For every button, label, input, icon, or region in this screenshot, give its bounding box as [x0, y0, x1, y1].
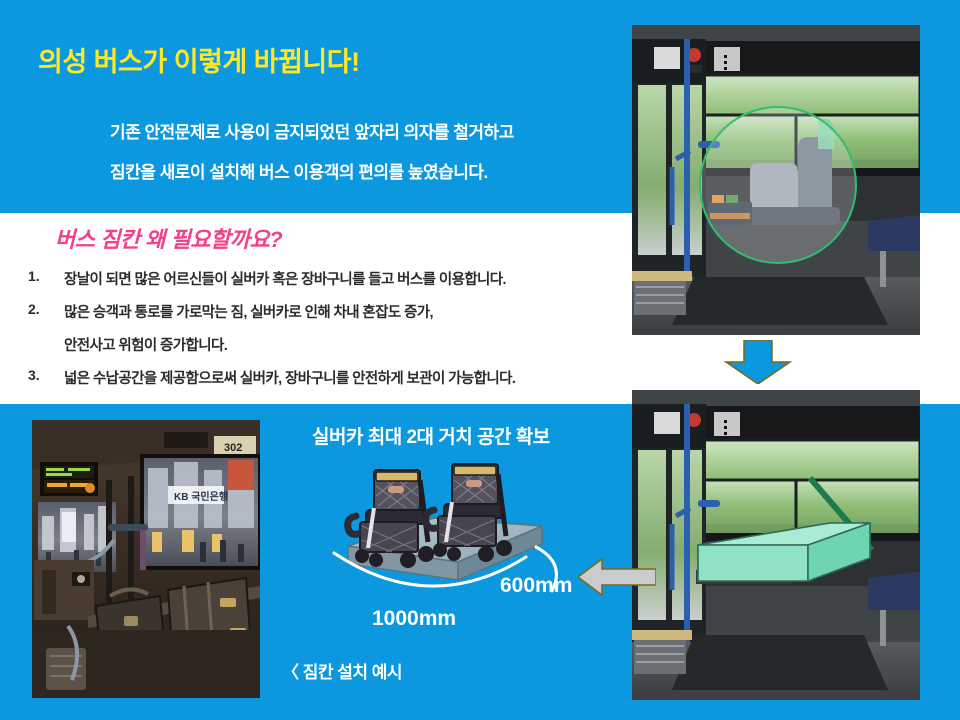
photo-bus-interior-before: [632, 25, 920, 335]
list-item-text: 많은 승객과 통로를 가로막는 짐, 실버카로 인해 차내 혼잡도 증가,: [64, 301, 433, 322]
list-item: 2. 많은 승객과 통로를 가로막는 짐, 실버카로 인해 차내 혼잡도 증가,: [22, 301, 632, 334]
arrow-down-icon: [722, 340, 794, 384]
list-item-continuation: 안전사고 위험이 증가합니다.: [22, 334, 632, 367]
dimension-label-width: 1000mm: [372, 607, 456, 631]
list-item: 3. 넓은 수납공간을 제공함으로써 실버카, 장바구니를 안전하게 보관이 가…: [22, 367, 632, 400]
list-item-text: 안전사고 위험이 증가합니다.: [64, 334, 227, 355]
silver-cart-platform-illustration: [330, 450, 560, 590]
photo-bus-interior-after-graphic: [632, 390, 920, 700]
reasons-list: 1. 장날이 되면 많은 어르신들이 실버카 혹은 장바구니를 들고 버스를 이…: [22, 268, 632, 400]
list-item-number: 1.: [22, 268, 64, 284]
list-item-number: 3.: [22, 367, 64, 383]
list-item-number: 2.: [22, 301, 64, 317]
page-subtitle-line-1: 기존 안전문제로 사용이 금지되었던 앞자리 의자를 철거하고: [110, 118, 514, 143]
section-heading-why: 버스 짐칸 왜 필요할까요?: [55, 222, 282, 254]
arrow-left-icon: [578, 557, 656, 597]
list-item: 1. 장날이 되면 많은 어르신들이 실버카 혹은 장바구니를 들고 버스를 이…: [22, 268, 632, 301]
list-item-text: 넓은 수납공간을 제공함으로써 실버카, 장바구니를 안전하게 보관이 가능합니…: [64, 367, 515, 388]
photo-bus-interior-before-graphic: [632, 25, 920, 335]
page-title: 의성 버스가 이렇게 바뀝니다!: [38, 40, 360, 79]
diagram-caption: 〈 짐칸 설치 예시: [282, 658, 402, 683]
route-number-label: 302: [224, 442, 242, 454]
diagram-title: 실버카 최대 2대 거치 공간 확보: [312, 422, 550, 449]
photo-night-bus-luggage-graphic: 302: [32, 420, 260, 698]
list-item-text: 장날이 되면 많은 어르신들이 실버카 혹은 장바구니를 들고 버스를 이용합니…: [64, 268, 506, 289]
page-subtitle-line-2: 짐칸을 새로이 설치해 버스 이용객의 편의를 높였습니다.: [110, 158, 488, 183]
poster-root: 의성 버스가 이렇게 바뀝니다! 기존 안전문제로 사용이 금지되었던 앞자리 …: [0, 0, 960, 720]
window-sign-label: KB 국민은행: [174, 490, 228, 503]
dimension-label-depth: 600mm: [500, 574, 572, 598]
photo-bus-interior-after: [632, 390, 920, 700]
photo-night-bus-luggage: 302: [32, 420, 260, 698]
